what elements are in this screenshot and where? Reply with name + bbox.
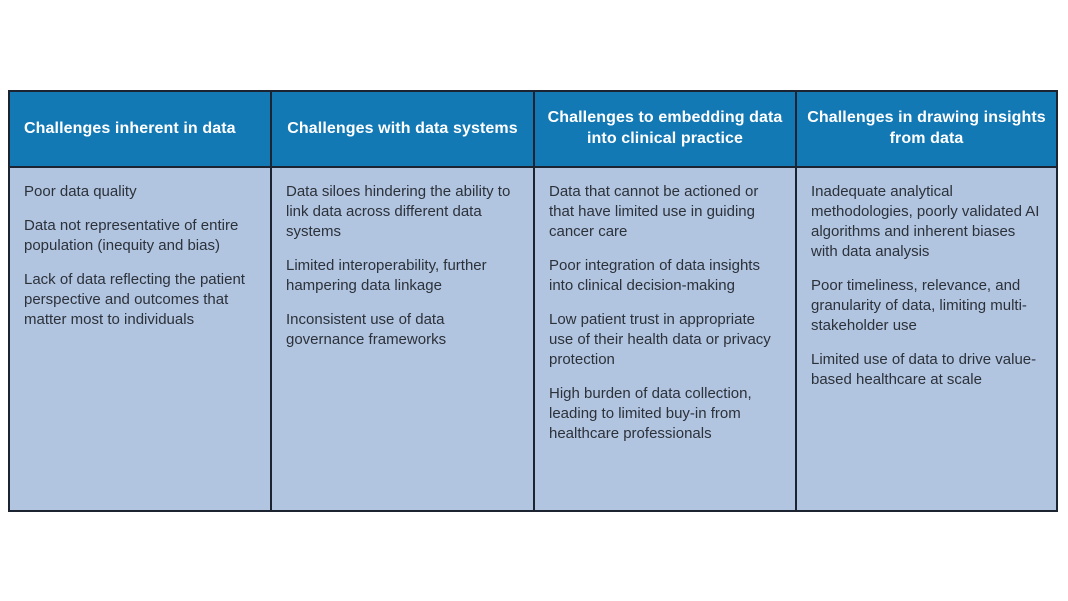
table-header-row: Challenges inherent in data Challenges w… [10, 92, 1056, 168]
column-body-challenges-in-drawing-insights-from-data: Inadequate analytical methodologies, poo… [797, 168, 1056, 510]
list-item: Poor data quality [24, 182, 256, 202]
challenges-table: Challenges inherent in data Challenges w… [8, 90, 1058, 512]
list-item: Poor integration of data insights into c… [549, 256, 781, 296]
list-item: Poor timeliness, relevance, and granular… [811, 276, 1042, 336]
list-item: Inconsistent use of data governance fram… [286, 310, 519, 350]
list-item: Inadequate analytical methodologies, poo… [811, 182, 1042, 262]
list-item: Low patient trust in appropriate use of … [549, 310, 781, 370]
column-header-challenges-inherent-in-data: Challenges inherent in data [10, 92, 272, 166]
list-item: Limited use of data to drive value-based… [811, 350, 1042, 390]
table-body-row: Poor data quality Data not representativ… [10, 168, 1056, 510]
column-header-challenges-with-data-systems: Challenges with data systems [272, 92, 535, 166]
column-body-challenges-to-embedding-data-into-clinical-practice: Data that cannot be actioned or that hav… [535, 168, 797, 510]
list-item: Data that cannot be actioned or that hav… [549, 182, 781, 242]
list-item: Limited interoperability, further hamper… [286, 256, 519, 296]
list-item: Lack of data reflecting the patient pers… [24, 270, 256, 330]
column-body-challenges-inherent-in-data: Poor data quality Data not representativ… [10, 168, 272, 510]
column-header-challenges-in-drawing-insights-from-data: Challenges in drawing insights from data [797, 92, 1056, 166]
column-body-challenges-with-data-systems: Data siloes hindering the ability to lin… [272, 168, 535, 510]
column-header-challenges-to-embedding-data-into-clinical-practice: Challenges to embedding data into clinic… [535, 92, 797, 166]
list-item: Data not representative of entire popula… [24, 216, 256, 256]
list-item: High burden of data collection, leading … [549, 384, 781, 444]
list-item: Data siloes hindering the ability to lin… [286, 182, 519, 242]
